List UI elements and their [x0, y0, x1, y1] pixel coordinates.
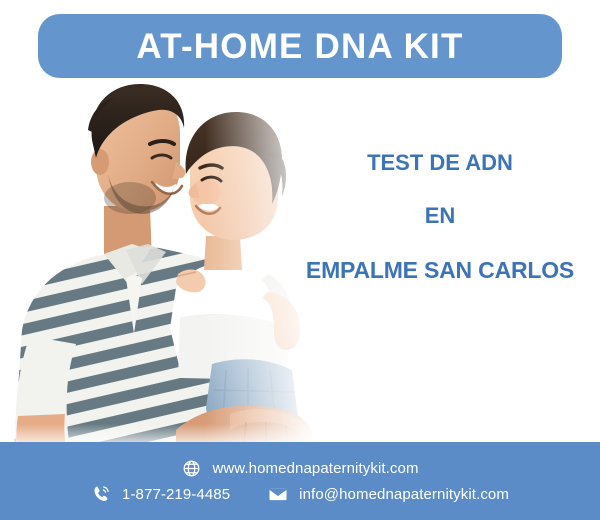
phone-icon [91, 484, 111, 504]
father-and-child-photo [0, 78, 330, 450]
website-url: www.homednapaternitykit.com [212, 461, 418, 476]
email-address: info@homednapaternitykit.com [299, 487, 509, 502]
headline-line-1: TEST DE ADN [290, 150, 590, 175]
footer-row-website: www.homednapaternitykit.com [181, 458, 418, 478]
photo-illustration [0, 78, 330, 450]
headline-line-3: EMPALME SAN CARLOS [290, 257, 590, 283]
phone-number: 1-877-219-4485 [122, 487, 230, 502]
footer-row-phone-email: 1-877-219-4485 info@homednapaternitykit.… [91, 484, 509, 504]
envelope-icon [268, 484, 288, 504]
email-contact-item[interactable]: info@homednapaternitykit.com [268, 484, 509, 504]
globe-icon [181, 458, 201, 478]
footer-contact-bar: www.homednapaternitykit.com 1-877-219-44… [0, 442, 600, 520]
headline-block: TEST DE ADN EN EMPALME SAN CARLOS [290, 150, 590, 283]
phone-contact-item[interactable]: 1-877-219-4485 [91, 484, 230, 504]
headline-line-2: EN [290, 203, 590, 228]
header-banner: AT-HOME DNA KIT [38, 14, 562, 78]
website-contact-item[interactable]: www.homednapaternitykit.com [181, 458, 418, 478]
page-title: AT-HOME DNA KIT [136, 29, 463, 64]
poster-canvas: AT-HOME DNA KIT [0, 0, 600, 520]
